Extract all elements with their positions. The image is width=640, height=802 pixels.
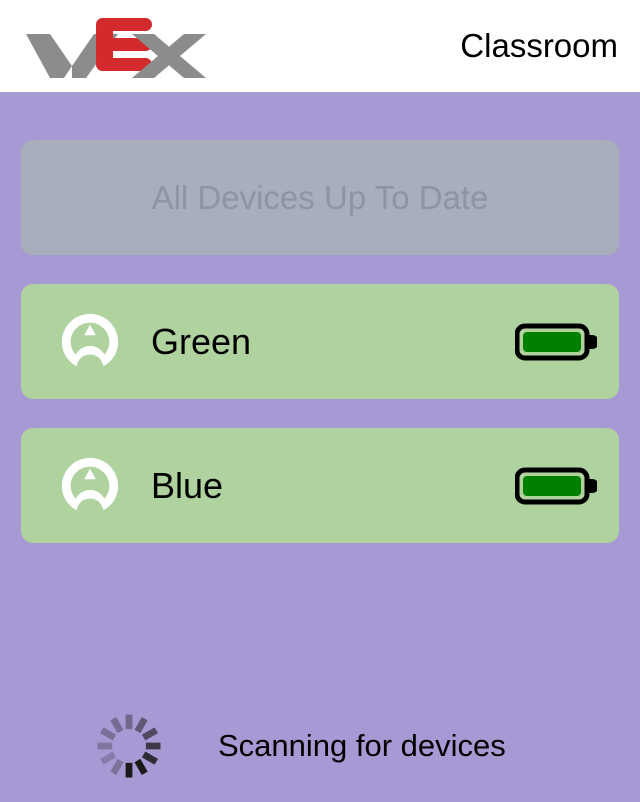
battery-full-icon (515, 322, 597, 362)
vex-brain-icon (59, 455, 121, 517)
device-row[interactable]: Blue (21, 428, 619, 543)
device-row[interactable]: Green (21, 284, 619, 399)
app-header: Classroom (0, 0, 640, 92)
device-list: Green Blue (21, 284, 619, 543)
battery-full-icon (515, 466, 597, 506)
main-content: All Devices Up To Date Green (0, 92, 640, 716)
vex-brain-icon (59, 311, 121, 373)
scanning-status: Scanning for devices (21, 690, 619, 802)
device-name-label: Green (151, 321, 515, 363)
vex-logo (20, 14, 212, 78)
loading-spinner-icon (93, 710, 165, 782)
scanning-label: Scanning for devices (218, 728, 506, 764)
device-name-label: Blue (151, 465, 515, 507)
app-window: Classroom All Devices Up To Date Green (0, 0, 640, 716)
status-banner-label: All Devices Up To Date (152, 179, 489, 217)
page-title: Classroom (460, 27, 618, 65)
status-banner: All Devices Up To Date (21, 140, 619, 255)
